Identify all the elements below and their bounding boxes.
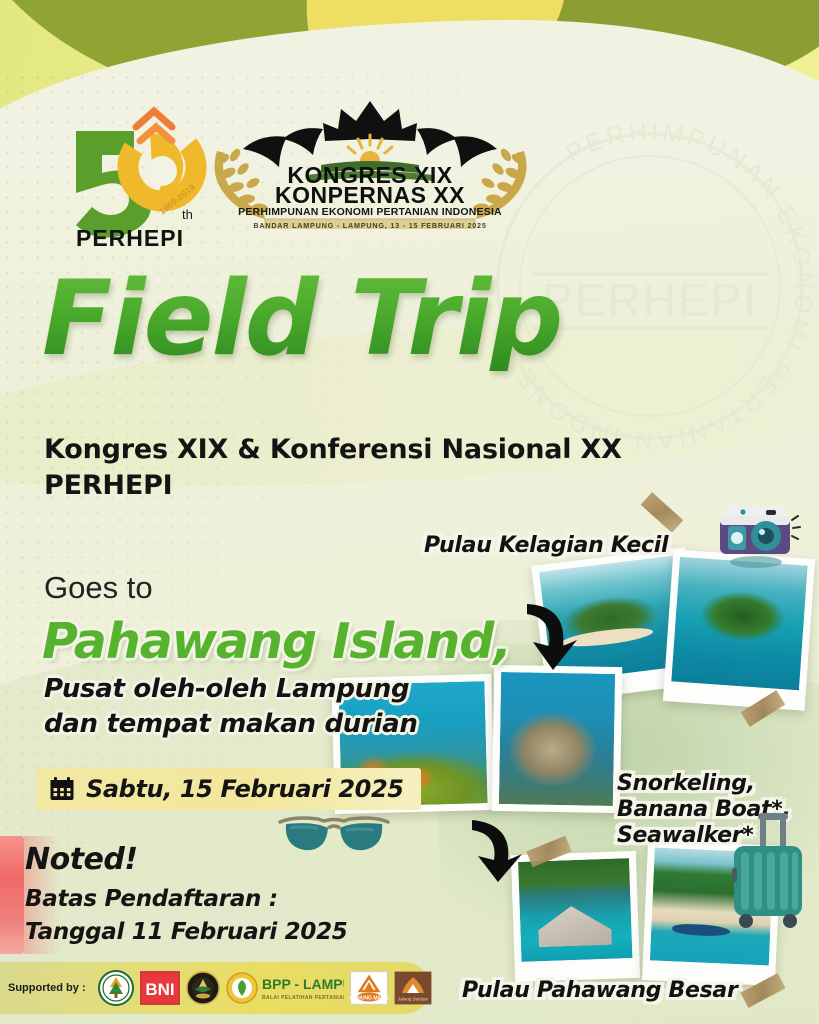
kongres-line3: PERHIMPUNAN EKONOMI PERTANIAN INDONESIA: [238, 206, 502, 218]
kementan-logo: [186, 969, 220, 1007]
perhepi-anniversary-logo: 1969-2019 th PERHEPI: [58, 89, 208, 249]
svg-text:Jalang Selatan: Jalang Selatan: [396, 997, 428, 1002]
page-subtitle: Kongres XIX & Konferensi Nasional XX PER…: [44, 432, 684, 503]
noted-accent-bar: [0, 836, 24, 954]
camera-icon: [706, 494, 802, 572]
noted-line-2: Tanggal 11 Februari 2025: [25, 919, 425, 945]
unila-logo: [98, 969, 134, 1007]
perhepi-wordmark: PERHEPI: [76, 225, 184, 249]
noted-heading: Noted!: [25, 842, 138, 877]
supported-by-strip: Supported by : BNI: [0, 962, 430, 1014]
anniversary-suffix: th: [182, 207, 193, 222]
poster-canvas: PERHIMPUNAN EKONOMI PERTANIAN INDONESIA …: [0, 0, 819, 1024]
date-badge: Sabtu, 15 Februari 2025: [36, 768, 421, 810]
event-date-text: Sabtu, 15 Februari 2025: [86, 775, 404, 803]
arrow-icon: [519, 600, 579, 672]
kongres-event-logo: KONGRES XIX KONPERNAS XX PERHIMPUNAN EKO…: [203, 99, 538, 229]
photo-kelagian-2: [663, 549, 815, 711]
header-logos: 1969-2019 th PERHEPI: [58, 84, 538, 249]
suitcase-icon: [724, 812, 810, 930]
noted-line-1: Batas Pendaftaran :: [25, 886, 425, 912]
arrow-icon: [466, 818, 524, 884]
calendar-icon: [49, 776, 75, 802]
bpp-lampung-logo: BPP - LAMPUNG BALAI PELATIHAN PERTANIAN …: [226, 969, 344, 1007]
destination-name: Pahawang Island,: [42, 613, 511, 670]
gunung-madu-logo: GUNUNG MADU: [350, 969, 388, 1007]
photo-seawalker: [492, 665, 623, 813]
photo-pahawang-jetty: [511, 851, 640, 982]
destination-description: Pusat oleh-oleh Lampung dan tempat makan…: [44, 672, 464, 742]
supported-by-label: Supported by :: [8, 982, 86, 994]
svg-text:GUNUNG MADU: GUNUNG MADU: [350, 996, 388, 1002]
watermark-center-text: PERHEPI: [542, 274, 758, 326]
page-title: Field Trip: [42, 268, 561, 371]
kongres-line4: BANDAR LAMPUNG - LAMPUNG, 13 - 15 FEBRUA…: [253, 221, 486, 229]
svg-text:BNI: BNI: [145, 980, 174, 999]
photo-label-pahawang: Pulau Pahawang Besar: [462, 978, 738, 1004]
jalang-selatan-logo: Jalang Selatan: [394, 969, 432, 1007]
bpp-lampung-subtext: BALAI PELATIHAN PERTANIAN LAMPUNG: [262, 995, 344, 1001]
bni-logo: BNI: [140, 969, 180, 1007]
sunglasses-icon: [274, 806, 394, 862]
kongres-line2: KONPERNAS XX: [275, 182, 465, 208]
goes-to-label: Goes to: [44, 570, 153, 606]
photo-label-kelagian: Pulau Kelagian Kecil: [424, 533, 668, 559]
bpp-lampung-text: BPP - LAMPUNG: [262, 976, 344, 992]
